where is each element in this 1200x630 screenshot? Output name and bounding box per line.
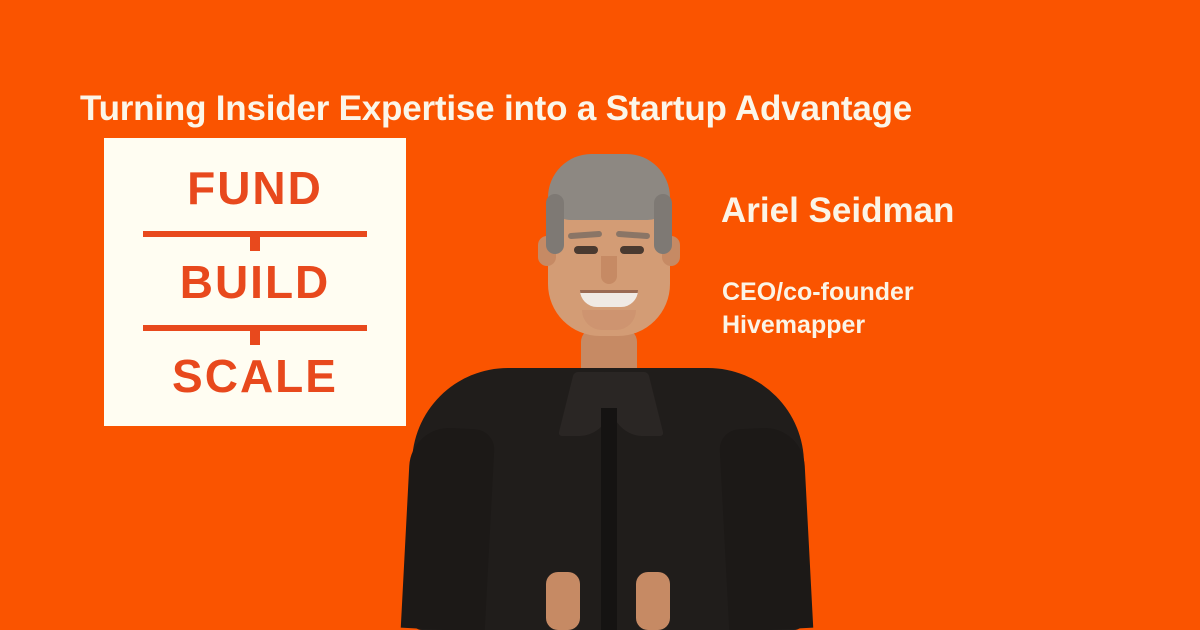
photo-shirt-placket — [601, 408, 617, 630]
logo-word-fund: FUND — [187, 165, 323, 211]
logo-word-scale: SCALE — [172, 353, 338, 399]
photo-nose — [601, 256, 617, 284]
photo-mouth — [580, 290, 638, 307]
page-title: Turning Insider Expertise into a Startup… — [80, 87, 1120, 131]
photo-hair-side-right — [654, 194, 672, 254]
photo-eye-left — [574, 246, 598, 254]
photo-eye-right — [620, 246, 644, 254]
guest-role: CEO/co-founder — [722, 276, 914, 309]
podcast-episode-card: Turning Insider Expertise into a Startup… — [0, 0, 1200, 630]
photo-forearm-left — [546, 572, 580, 630]
photo-hair-side-left — [546, 194, 564, 254]
photo-arm-left — [401, 426, 495, 630]
guest-name: Ariel Seidman — [721, 191, 954, 231]
photo-arm-right — [719, 426, 813, 630]
guest-company: Hivemapper — [722, 309, 865, 342]
photo-forearm-right — [636, 572, 670, 630]
fund-build-scale-logo: FUND BUILD SCALE — [104, 138, 406, 426]
photo-hair — [548, 154, 670, 220]
logo-divider-bottom — [143, 325, 367, 331]
logo-divider-top — [143, 231, 367, 237]
logo-word-build: BUILD — [180, 259, 331, 305]
